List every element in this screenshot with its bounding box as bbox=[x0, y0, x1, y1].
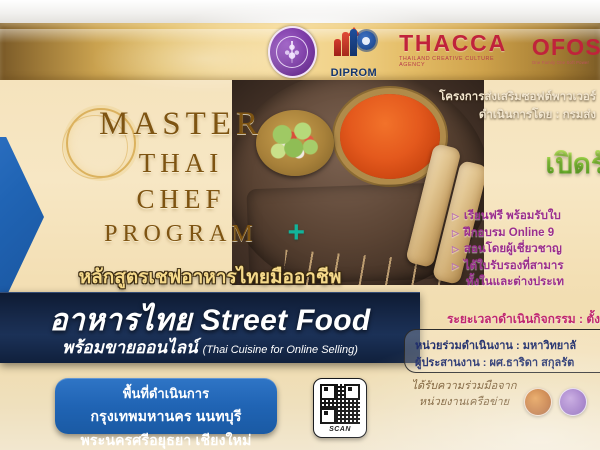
qr-scan-label: SCAN bbox=[329, 426, 351, 433]
poster-canvas: DIPROM กรมส่งเสริมอุตสาหกรรม THACCA THAI… bbox=[0, 0, 600, 450]
top-highlight-strip bbox=[0, 0, 600, 23]
coordinator-line: ผู้ประสานงาน : ผศ.ธาริดา สกุลรัต bbox=[415, 353, 574, 371]
headline-sub-thai: พร้อมขายออนไลน์ bbox=[62, 338, 198, 357]
benefit-text: ฝึกอบรม Online 9 bbox=[464, 225, 554, 242]
network-note: ได้รับความร่วมมือจาก หน่วยงานเครือข่าย bbox=[404, 378, 524, 410]
list-item: ▷ ฝึกอบรม Online 9 bbox=[452, 225, 600, 242]
headline-panel: อาหารไทย Street Food พร้อมขายออนไลน์(Tha… bbox=[0, 292, 420, 363]
program-thai-subtitle: หลักสูตรเชฟอาหารไทยมืออาชีพ bbox=[40, 262, 380, 292]
benefit-text: ได้ใบรับรองที่สามาร bbox=[464, 258, 564, 275]
list-item: ▷ ได้ใบรับรองที่สามาร bbox=[452, 258, 600, 275]
program-title-line-4: PROGRAM + bbox=[56, 222, 306, 246]
network-note-line-2: หน่วยงานเครือข่าย bbox=[404, 394, 524, 410]
co-operator-line: หน่วยร่วมดำเนินงาน : มหาวิทยาลั bbox=[415, 336, 576, 354]
program-title-line-1: MASTER bbox=[56, 108, 306, 141]
benefit-continuation: ทั้งในและต่างประเท bbox=[466, 274, 600, 291]
diprom-bar-1 bbox=[334, 39, 341, 56]
diprom-wordmark: DIPROM bbox=[325, 68, 383, 79]
program-title-line-2: THAI bbox=[56, 150, 306, 177]
program-title-line-4-text: PROGRAM bbox=[104, 221, 258, 247]
area-title: พื้นที่ดำเนินการ bbox=[55, 383, 277, 404]
ofos-wordmark: OFOS bbox=[532, 36, 600, 59]
plus-icon: + bbox=[287, 218, 310, 248]
benefit-text: เรียนฟรี พร้อมรับใบ bbox=[464, 208, 561, 225]
diprom-logo: DIPROM กรมส่งเสริมอุตสาหกรรม bbox=[325, 27, 379, 77]
benefits-list: ▷ เรียนฟรี พร้อมรับใบ ▷ ฝึกอบรม Online 9… bbox=[452, 208, 600, 291]
qr-code-image bbox=[320, 384, 360, 424]
peanut-sauce-bowl bbox=[340, 94, 440, 179]
benefit-text: สอนโดยผู้เชี่ยวชาญ bbox=[464, 241, 562, 258]
open-registration-badge: เปิดรั bbox=[545, 142, 600, 186]
benefits-items: ▷ เรียนฟรี พร้อมรับใบ ▷ ฝึกอบรม Online 9… bbox=[452, 208, 600, 274]
network-logos bbox=[524, 388, 587, 416]
ofos-logo: OFOS One Family One Soft Power bbox=[532, 36, 600, 65]
diprom-bar-3 bbox=[350, 29, 357, 56]
qr-finder-top-left bbox=[320, 384, 336, 400]
area-row-1: กรุงเทพมหานคร นนทบุรี bbox=[55, 406, 277, 428]
headline-sub: พร้อมขายออนไลน์(Thai Cuisine for Online … bbox=[0, 334, 420, 361]
qr-finder-top-right bbox=[344, 384, 360, 400]
triangle-bullet-icon: ▷ bbox=[452, 225, 459, 241]
qr-finder-bottom-left bbox=[320, 408, 336, 424]
logo-row: DIPROM กรมส่งเสริมอุตสาหกรรม THACCA THAI… bbox=[268, 26, 600, 78]
project-line-2: ดำเนินการโดย : กรมส่ง bbox=[479, 106, 596, 124]
partner-info-box: หน่วยร่วมดำเนินงาน : มหาวิทยาลั ผู้ประสา… bbox=[404, 329, 600, 373]
project-line-1: โครงการส่งเสริมซอฟต์พาวเวอร์ bbox=[439, 88, 596, 106]
program-title-line-3: CHEF bbox=[56, 186, 306, 213]
network-note-line-1: ได้รับความร่วมมือจาก bbox=[404, 378, 524, 394]
qr-code[interactable]: SCAN bbox=[313, 378, 367, 438]
thacca-tagline: THAILAND CREATIVE CULTURE AGENCY bbox=[399, 56, 514, 68]
university-seal-icon bbox=[268, 26, 317, 78]
headline-sub-en: (Thai Cuisine for Online Selling) bbox=[203, 344, 358, 356]
list-item: ▷ เรียนฟรี พร้อมรับใบ bbox=[452, 208, 600, 225]
activity-period: ระยะเวลาดำเนินกิจกรรม : ตั้ง bbox=[447, 310, 600, 329]
thacca-logo: THACCA THAILAND CREATIVE CULTURE AGENCY bbox=[399, 32, 514, 68]
triangle-bullet-icon: ▷ bbox=[452, 258, 459, 274]
diprom-gear-icon bbox=[357, 31, 376, 50]
network-logo-orange-icon bbox=[524, 388, 552, 416]
list-item: ▷ สอนโดยผู้เชี่ยวชาญ bbox=[452, 241, 600, 258]
area-row-2: พระนครศรีอยุธยา เชียงใหม่ bbox=[55, 430, 277, 450]
network-logo-purple-icon bbox=[559, 388, 587, 416]
program-title: MASTER THAI CHEF PROGRAM + bbox=[56, 108, 306, 246]
diprom-bar-2 bbox=[342, 32, 349, 56]
service-area-box: พื้นที่ดำเนินการ กรุงเทพมหานคร นนทบุรี พ… bbox=[55, 378, 277, 434]
triangle-bullet-icon: ▷ bbox=[452, 241, 459, 257]
diprom-mark-icon bbox=[333, 28, 377, 56]
triangle-bullet-icon: ▷ bbox=[452, 208, 459, 224]
blue-chevron-shape bbox=[0, 137, 44, 297]
ofos-tagline: One Family One Soft Power bbox=[532, 60, 600, 65]
thacca-wordmark: THACCA bbox=[399, 32, 514, 55]
